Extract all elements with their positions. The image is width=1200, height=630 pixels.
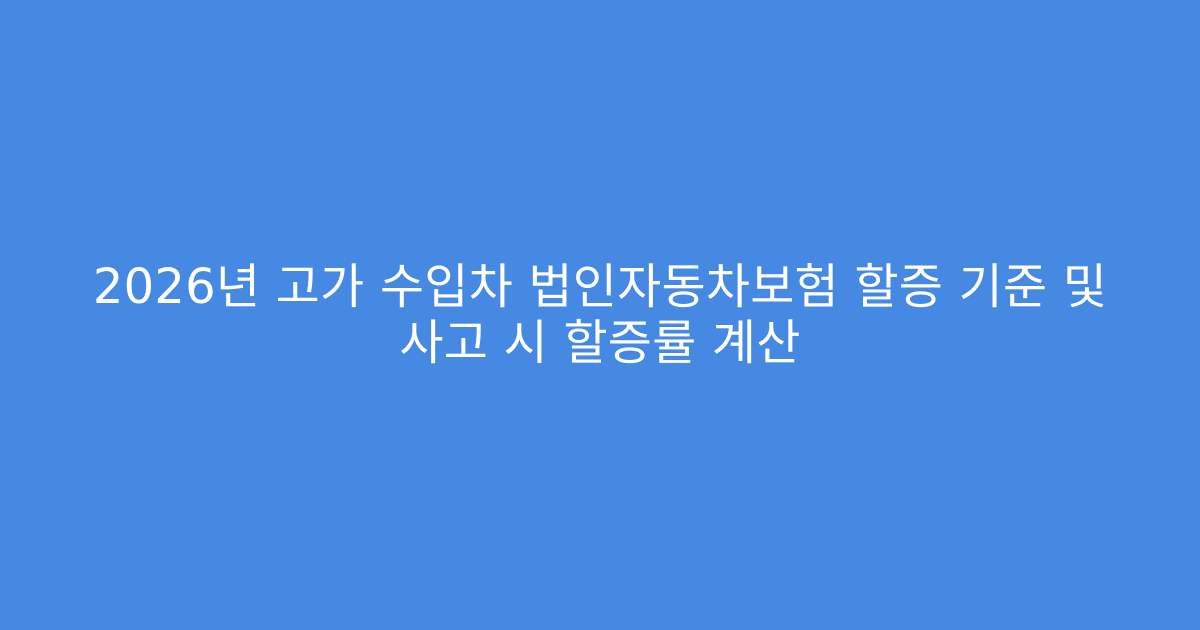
social-card-canvas: 2026년 고가 수입차 법인자동차보험 할증 기준 및 사고 시 할증률 계산 xyxy=(0,0,1200,630)
title-block: 2026년 고가 수입차 법인자동차보험 할증 기준 및 사고 시 할증률 계산 xyxy=(60,259,1140,371)
page-title: 2026년 고가 수입차 법인자동차보험 할증 기준 및 사고 시 할증률 계산 xyxy=(70,259,1130,371)
